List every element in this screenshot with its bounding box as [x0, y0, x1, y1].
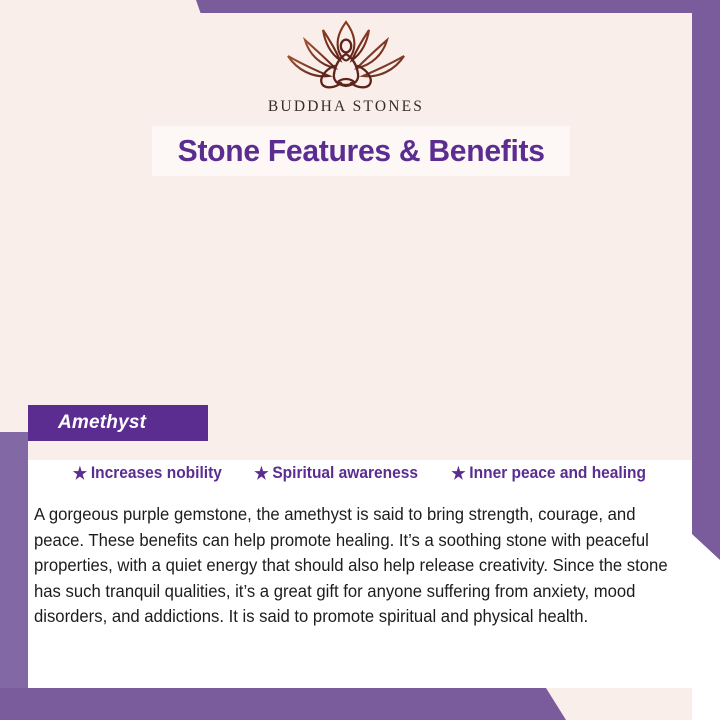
benefit-label: Increases nobility [91, 464, 222, 483]
stone-info-poster: BUDDHA STONES Stone Features & Benefits [0, 0, 720, 720]
brand-name: BUDDHA STONES [0, 98, 692, 116]
stone-description: A gorgeous purple gemstone, the amethyst… [34, 502, 670, 630]
stone-name: Amethyst [28, 412, 146, 434]
content-panel: ★ Increases nobility ★ Spiritual awarene… [28, 448, 692, 688]
benefits-list: ★ Increases nobility ★ Spiritual awarene… [28, 464, 692, 483]
page-title-plate: Stone Features & Benefits [152, 126, 570, 176]
benefit-item-1: ★ Increases nobility [73, 464, 222, 483]
stone-name-banner: Amethyst [28, 405, 208, 441]
benefit-label: Spiritual awareness [272, 464, 418, 483]
lotus-meditation-icon [271, 16, 421, 94]
page-title: Stone Features & Benefits [177, 133, 544, 169]
brand-logo-block: BUDDHA STONES [0, 16, 692, 116]
star-icon: ★ [254, 465, 268, 482]
frame-left-accent [0, 432, 28, 720]
benefit-item-3: ★ Inner peace and healing [451, 464, 646, 483]
frame-right-accent [692, 0, 720, 560]
benefit-label: Inner peace and healing [469, 464, 646, 483]
content-top-tint [28, 448, 692, 460]
benefit-item-2: ★ Spiritual awareness [254, 464, 418, 483]
star-icon: ★ [451, 465, 465, 482]
star-icon: ★ [73, 465, 87, 482]
